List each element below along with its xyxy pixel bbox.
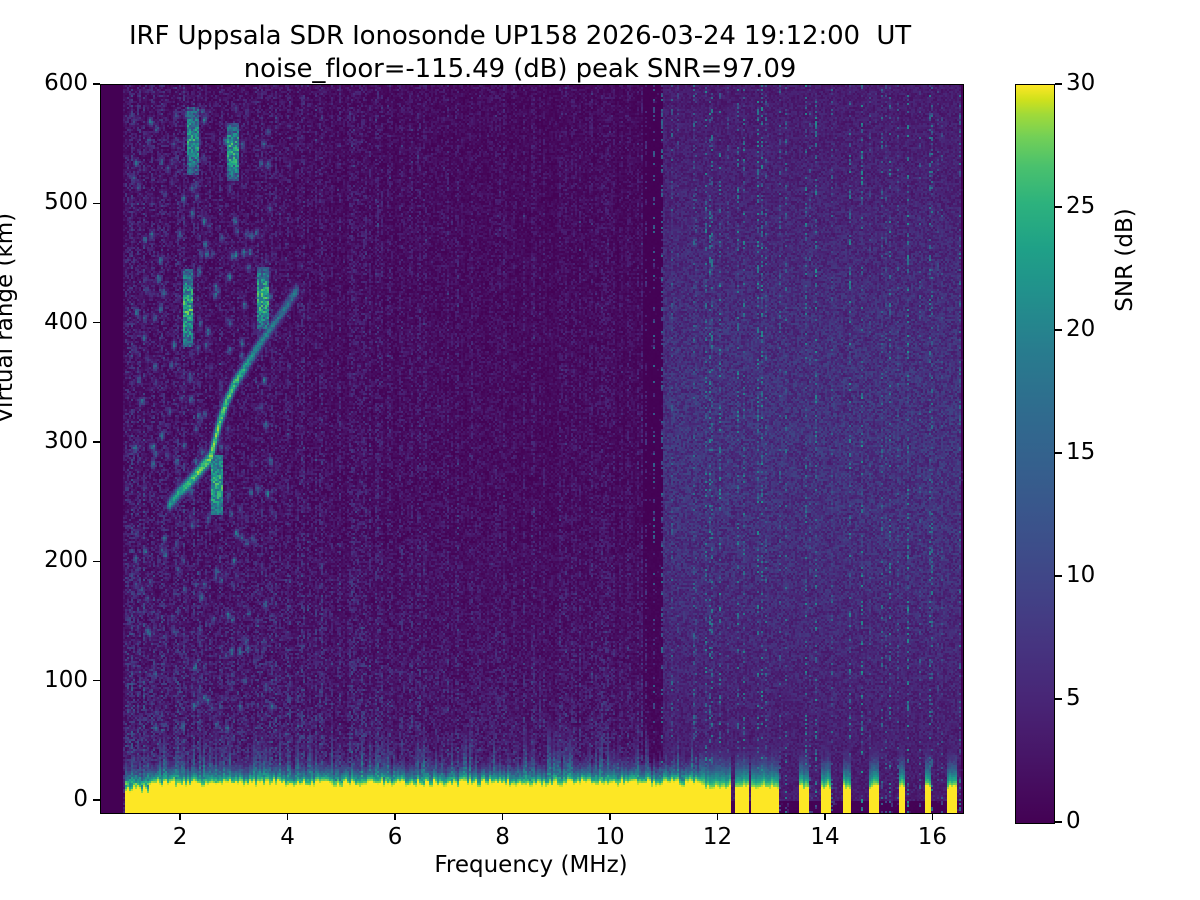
colorbar-tick-label: 30 [1066, 72, 1095, 95]
colorbar-tick-label: 20 [1066, 318, 1095, 341]
ionogram-heatmap [101, 85, 963, 813]
colorbar-label: SNR (dB) [1112, 160, 1138, 360]
x-tick-label: 2 [140, 826, 220, 849]
title-line-1: IRF Uppsala SDR Ionosonde UP158 2026-03-… [0, 20, 1040, 53]
y-tick-label: 600 [18, 72, 88, 95]
ionogram-axes [100, 84, 964, 814]
y-axis-label: Virtual range (km) [0, 188, 18, 448]
y-tick-label: 500 [18, 191, 88, 214]
page-title: IRF Uppsala SDR Ionosonde UP158 2026-03-… [0, 20, 1040, 86]
y-tick-label: 300 [18, 430, 88, 453]
colorbar-tick-mark [1055, 821, 1062, 822]
colorbar-tick-label: 25 [1066, 195, 1095, 218]
y-tick-mark [93, 322, 100, 323]
y-tick-mark [93, 83, 100, 84]
colorbar-tick-mark [1055, 83, 1062, 84]
y-tick-mark [93, 799, 100, 800]
ionogram-figure: IRF Uppsala SDR Ionosonde UP158 2026-03-… [0, 0, 1200, 900]
x-tick-label: 16 [892, 826, 972, 849]
x-tick-label: 10 [570, 826, 650, 849]
x-tick-mark [394, 813, 395, 820]
x-tick-label: 8 [463, 826, 543, 849]
colorbar-tick-mark [1055, 206, 1062, 207]
x-tick-mark [179, 813, 180, 820]
x-tick-mark [287, 813, 288, 820]
y-tick-mark [93, 561, 100, 562]
x-tick-mark [932, 813, 933, 820]
colorbar-tick-mark [1055, 329, 1062, 330]
colorbar [1015, 84, 1055, 824]
y-tick-label: 400 [18, 311, 88, 334]
y-tick-mark [93, 441, 100, 442]
colorbar-tick-mark [1055, 575, 1062, 576]
y-tick-label: 100 [18, 669, 88, 692]
x-tick-label: 6 [355, 826, 435, 849]
colorbar-tick-label: 10 [1066, 564, 1095, 587]
x-axis-label: Frequency (MHz) [100, 852, 962, 878]
x-tick-label: 14 [785, 826, 865, 849]
colorbar-tick-label: 15 [1066, 441, 1095, 464]
x-tick-label: 12 [677, 826, 757, 849]
colorbar-tick-mark [1055, 698, 1062, 699]
x-tick-label: 4 [248, 826, 328, 849]
x-tick-mark [717, 813, 718, 820]
y-tick-label: 200 [18, 549, 88, 572]
y-tick-mark [93, 203, 100, 204]
y-tick-label: 0 [18, 788, 88, 811]
title-line-2: noise_floor=-115.49 (dB) peak SNR=97.09 [0, 53, 1040, 86]
y-tick-mark [93, 680, 100, 681]
x-tick-mark [609, 813, 610, 820]
colorbar-tick-label: 5 [1066, 687, 1081, 710]
colorbar-tick-label: 0 [1066, 810, 1081, 833]
x-tick-mark [824, 813, 825, 820]
colorbar-tick-mark [1055, 452, 1062, 453]
x-tick-mark [502, 813, 503, 820]
